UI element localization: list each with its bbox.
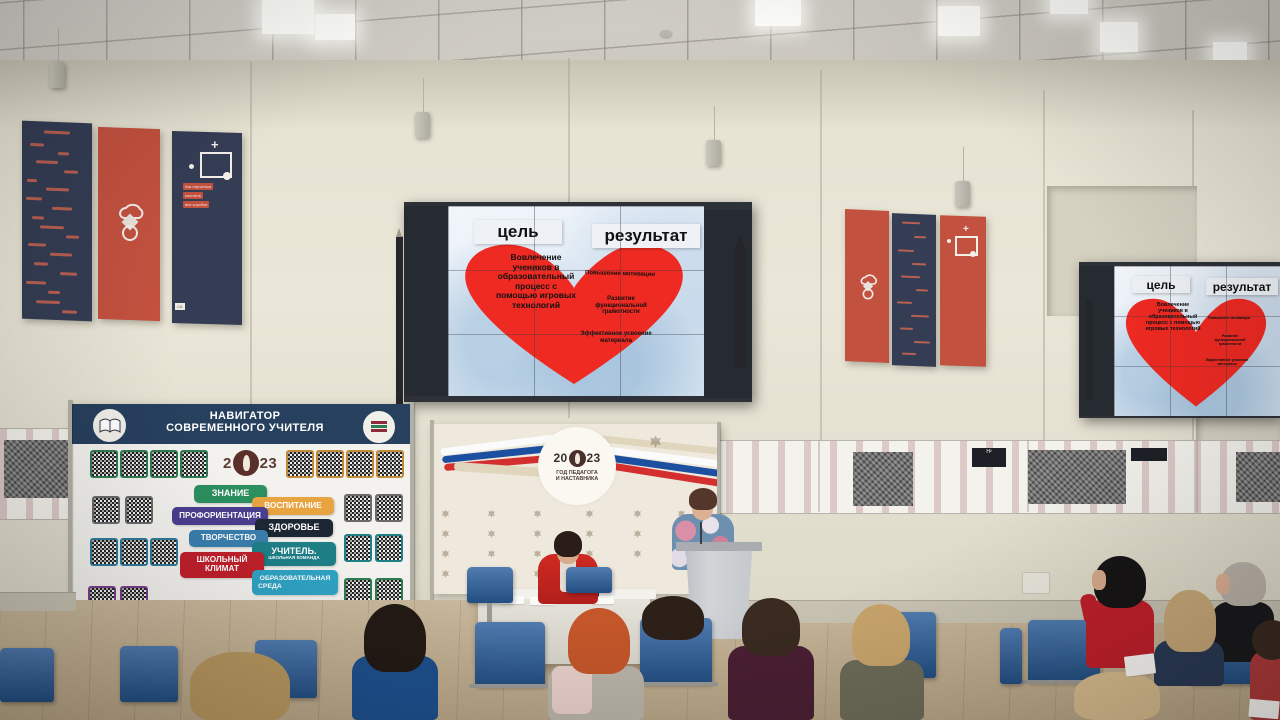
audience-hair: [190, 652, 290, 720]
banner-logo-year-right: 23: [260, 455, 277, 472]
panel-tag-line-2: мыслить: [183, 192, 203, 199]
audience-hair: [742, 598, 800, 656]
qr-code[interactable]: [90, 538, 118, 566]
plus-icon: +: [211, 138, 219, 151]
screen-support-pole: [396, 236, 403, 406]
cloud-icon: [112, 200, 148, 242]
speaker-tower: [735, 248, 746, 368]
audience-hair: [1164, 590, 1216, 652]
bubble-label: ОБРАЗОВАТЕЛЬНАЯ: [260, 575, 331, 582]
dash-pattern-icon: [892, 213, 936, 367]
result-item-right-2: Развитие функциональной грамотности: [1208, 334, 1252, 346]
podium-top: [676, 542, 762, 551]
chair-arm: [469, 684, 551, 688]
banner-bird-icon: [233, 450, 259, 476]
speaker-hair: [689, 488, 717, 510]
result-item-3: Эффективное усвоение материала: [577, 331, 655, 344]
chair-back: [1000, 628, 1022, 684]
chair-back: [475, 622, 545, 686]
panel-tag-line-3: вне коробки: [183, 201, 209, 208]
wall-socket[interactable]: [1022, 572, 1050, 594]
result-item-right-3: Эффективное усвоение материала: [1200, 358, 1254, 366]
qr-code[interactable]: [286, 450, 314, 478]
led-video-wall-screen[interactable]: цель результат Вовлечение учеников в обр…: [448, 206, 704, 396]
chair-back: [120, 646, 178, 702]
dash-pattern-icon: [22, 121, 92, 322]
conference-hall-photo: + Как научиться мыслить вне коробки CA +: [0, 0, 1280, 720]
logo-year-right: 23: [587, 451, 601, 465]
label-result-text-right: результат: [1213, 280, 1272, 294]
chair[interactable]: [1000, 628, 1022, 688]
qr-code[interactable]: [120, 538, 148, 566]
microphone-icon: [700, 522, 702, 544]
qr-code[interactable]: [120, 450, 148, 478]
qr-code[interactable]: [375, 494, 403, 522]
audience-member: [1154, 590, 1224, 686]
audience-paper: [1124, 653, 1156, 677]
qr-code[interactable]: [376, 450, 404, 478]
books-seal-icon: [362, 410, 396, 444]
chair[interactable]: [475, 622, 545, 720]
audience-body: [840, 660, 924, 720]
hanging-speaker: [706, 140, 721, 166]
chair-arm: [634, 682, 718, 686]
bubble-uchitel[interactable]: УЧИТЕЛЬ. ШКОЛЬНАЯ КОМАНДА: [252, 542, 336, 566]
audience-member: [840, 604, 924, 720]
audience-hair: [852, 604, 910, 666]
qr-code[interactable]: [150, 450, 178, 478]
wall-shadow: [0, 60, 1280, 130]
qr-code[interactable]: [150, 538, 178, 566]
audience-member: [352, 604, 438, 720]
bubble-label: ТВОРЧЕСТВО: [201, 534, 256, 542]
plus-icon: +: [963, 225, 969, 235]
bubble-sublabel: КЛИМАТ: [205, 565, 239, 574]
speaker-tower-right: [1086, 300, 1093, 400]
qr-code[interactable]: [316, 450, 344, 478]
label-result-right: результат: [1206, 278, 1278, 295]
banner-logo-year-left: 2: [223, 455, 232, 472]
result-item-2: Развитие функциональной грамотности: [590, 296, 652, 316]
panel-tag-line-1: Как научиться: [183, 183, 213, 190]
audience-member: [180, 652, 298, 720]
qr-code[interactable]: [180, 450, 208, 478]
audience-hair: [642, 596, 704, 640]
audience-hair: [1074, 672, 1160, 720]
label-goal-text: цель: [497, 222, 538, 242]
bubble-sublabel: СРЕДА: [252, 583, 282, 590]
bubble-proforientacia[interactable]: ПРОФОРИЕНТАЦИЯ: [172, 507, 268, 525]
label-result-text: результат: [605, 226, 688, 246]
frieze-seam: [818, 440, 820, 512]
arch-photo-left: [4, 440, 72, 498]
navigator-banner-title: НАВИГАТОР СОВРЕМЕННОГО УЧИТЕЛЯ: [130, 410, 360, 435]
baseboard: [0, 592, 76, 611]
label-result: результат: [592, 224, 700, 248]
monument-photo: [1236, 452, 1280, 502]
qr-code[interactable]: [90, 450, 118, 478]
wall-seam: [250, 62, 252, 462]
chair[interactable]: [120, 646, 178, 720]
teacher-silhouette-icon: [569, 450, 586, 467]
banner-title-line-2: СОВРЕМЕННОГО УЧИТЕЛЯ: [130, 422, 360, 434]
year-of-teacher-logo: 20 23 ГОД ПЕДАГОГА И НАСТАВНИКА: [538, 427, 616, 505]
photo-plaque: [1131, 448, 1167, 461]
speaker-tower-tip: [735, 234, 745, 249]
qr-code[interactable]: [375, 534, 403, 562]
triumphal-arch-photo: [853, 452, 913, 506]
photo-plaque-text: Н²: [972, 448, 1006, 458]
ceiling-light: [755, 0, 801, 26]
stacked-books-icon: [369, 419, 389, 435]
frieze-seam: [1196, 440, 1198, 512]
hanging-speaker: [955, 181, 970, 207]
qr-code[interactable]: [125, 496, 153, 524]
hanging-speaker: [50, 62, 65, 88]
open-book-icon: [99, 418, 121, 434]
ceiling-light: [315, 14, 355, 40]
audience-hair: [364, 604, 426, 672]
label-goal: цель: [474, 220, 562, 244]
qr-code[interactable]: [92, 496, 120, 524]
ceiling-light: [1050, 0, 1088, 14]
screen-support-tip: [396, 228, 402, 237]
led-video-wall-screen-right[interactable]: цель результат Вовлечение учеников в обр…: [1114, 266, 1280, 416]
ministry-emblem-top-right: [650, 436, 661, 448]
goal-text-right: Вовлечение учеников в образовательный пр…: [1144, 302, 1202, 332]
result-item-right-1: Повышение мотивации: [1202, 316, 1256, 320]
bubble-sublabel: ШКОЛЬНАЯ КОМАНДА: [268, 556, 319, 561]
moderator-hair: [554, 531, 582, 557]
ceiling-light: [262, 0, 314, 34]
screen-side-panel-right: [1079, 266, 1114, 416]
audience-member: [642, 596, 704, 640]
logo-year-left: 20: [554, 451, 568, 465]
qr-code[interactable]: [344, 534, 372, 562]
audience-face: [1092, 570, 1106, 590]
book-seal-icon: [92, 408, 127, 443]
chair[interactable]: [566, 567, 612, 595]
wall-seam: [1043, 90, 1045, 470]
dot-icon: [223, 172, 231, 180]
bubble-label: ВОСПИТАНИЕ: [264, 502, 321, 511]
chair[interactable]: [0, 648, 54, 720]
panel-corner-tag: CA: [175, 303, 185, 310]
banner-year-logo: 2 23: [214, 448, 286, 478]
hanging-speaker: [415, 112, 430, 138]
logo-subtitle-2: И НАСТАВНИКА: [556, 476, 598, 482]
ceiling-light: [1100, 22, 1138, 52]
wall-seam: [820, 70, 822, 460]
chair[interactable]: [467, 567, 513, 627]
audience-body: [728, 646, 814, 720]
chair-back: [566, 567, 612, 593]
qr-code[interactable]: [346, 450, 374, 478]
audience-hair: [568, 608, 630, 674]
qr-code[interactable]: [344, 494, 372, 522]
dot-icon: [189, 164, 194, 169]
label-goal-text-right: цель: [1146, 278, 1175, 292]
audience-paper: [1248, 699, 1279, 720]
bubble-label: ЗНАНИЕ: [212, 489, 250, 498]
goal-text: Вовлечение учеников в образовательный пр…: [496, 253, 576, 310]
audience-member: [548, 608, 644, 720]
banner-support-pole: [430, 420, 433, 620]
dot-icon: [947, 239, 951, 243]
dot-icon: [970, 251, 976, 257]
bubble-label: ПРОФОРИЕНТАЦИЯ: [179, 512, 261, 521]
chair-back: [467, 567, 513, 603]
chair-back: [0, 648, 54, 702]
audience-member: [1074, 672, 1160, 720]
banner-title-line-1: НАВИГАТОР: [130, 410, 360, 422]
audience-member: [728, 598, 814, 720]
audience-member-headscarf: [1086, 556, 1154, 668]
bubble-label: ЗДОРОВЬЕ: [269, 523, 320, 532]
cloud-icon: [856, 272, 880, 300]
ceiling-light: [938, 6, 980, 36]
smoke-detector-icon: [660, 30, 672, 37]
photo-plaque: Н²: [972, 448, 1006, 467]
bubble-obrazovatelnaya-sreda[interactable]: ОБРАЗОВАТЕЛЬНАЯ СРЕДА: [252, 570, 338, 595]
logo-year-row: 20 23: [554, 450, 601, 467]
label-goal-right: цель: [1132, 276, 1190, 293]
screen-side-panel: [404, 206, 448, 396]
bridge-photo: [1028, 450, 1126, 504]
